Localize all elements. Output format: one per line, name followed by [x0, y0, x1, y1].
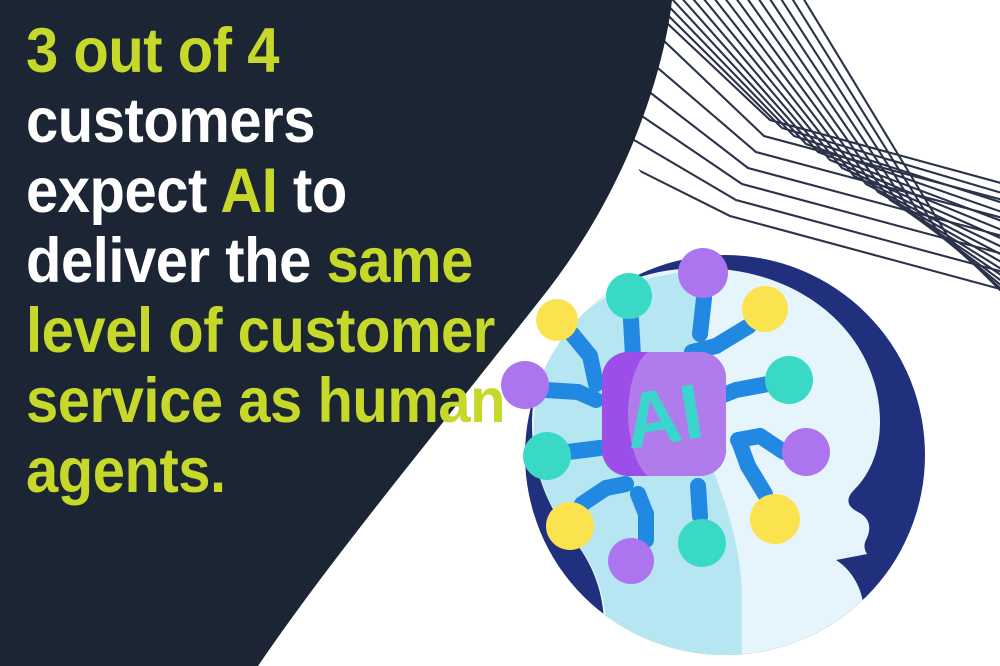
headline-text: deliver the [26, 226, 327, 296]
headline-line-7: agents. [26, 436, 486, 506]
node-yellow-bottom-left [546, 502, 594, 550]
headline-text: expect [26, 156, 220, 226]
poster-canvas: AI [0, 0, 1000, 666]
node-purple-top [678, 248, 728, 298]
headline-line-6: service as human [26, 366, 486, 436]
ai-chip-label: AI [618, 366, 709, 465]
node-teal-left [523, 432, 571, 480]
headline-line-2: customers [26, 86, 486, 156]
node-purple-right [782, 428, 830, 476]
headline-line-5: level of customer [26, 296, 486, 366]
node-teal-top [606, 273, 652, 319]
headline-text: service as human [26, 366, 505, 436]
headline-text: agents. [26, 436, 226, 506]
headline-line-4: deliver the same [26, 226, 486, 296]
headline-text: customers [26, 86, 315, 156]
node-yellow-top-right [742, 286, 788, 332]
headline-line-1: 3 out of 4 [26, 16, 486, 86]
node-teal-right [765, 356, 813, 404]
headline-emphasis-ai: AI [220, 156, 277, 226]
node-purple-bottom [608, 538, 654, 584]
headline-emphasis-same: same [327, 226, 473, 296]
headline-text: to [277, 156, 346, 226]
node-yellow-bottom-right [750, 494, 800, 544]
ai-chip: AI [602, 352, 726, 476]
node-yellow-top-left [536, 299, 578, 341]
headline-text: 3 out of 4 [26, 16, 279, 86]
node-teal-bottom [678, 519, 726, 567]
headline-line-3: expect AI to [26, 156, 486, 226]
headline-block: 3 out of 4 customers expect AI to delive… [26, 16, 526, 506]
headline-text: level of customer [26, 296, 495, 366]
